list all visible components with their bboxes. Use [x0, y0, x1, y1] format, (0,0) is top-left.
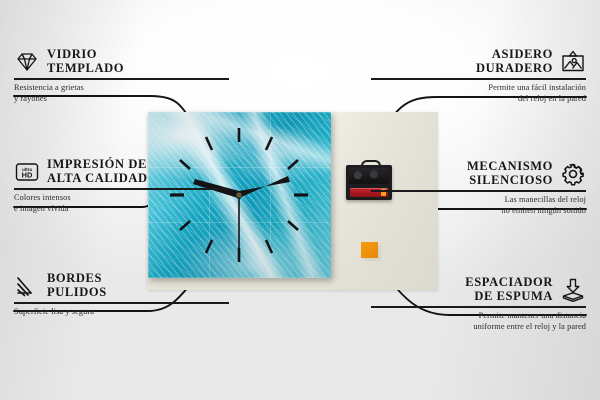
feature-desc-line2: no emiten ningún sonido: [371, 206, 586, 216]
diamond-icon: [14, 49, 40, 75]
tick-7: [206, 240, 212, 253]
svg-text:HD: HD: [22, 170, 33, 179]
feature-vidrio-templado: VIDRIO TEMPLADO Resistencia a grietas y …: [14, 48, 229, 104]
feature-title-line2: DE ESPUMA: [465, 290, 553, 304]
minute-hand: [237, 176, 290, 199]
feature-desc-line2: e imagen vívida: [14, 204, 229, 214]
hanging-frame-icon: [560, 49, 586, 75]
feature-rule: [14, 302, 229, 304]
feature-title-line1: IMPRESIÓN DE: [47, 158, 148, 172]
feature-rule: [14, 188, 229, 190]
feature-rule: [371, 190, 586, 192]
feature-title-line2: PULIDOS: [47, 286, 107, 300]
tick-2: [288, 160, 298, 169]
feature-title-line2: ALTA CALIDAD: [47, 172, 148, 186]
tick-11: [206, 137, 212, 150]
infographic-canvas: VIDRIO TEMPLADO Resistencia a grietas y …: [0, 0, 600, 400]
tick-5: [266, 240, 272, 253]
feature-desc-line1: Las manecillas del reloj: [371, 195, 586, 205]
feature-rule: [371, 306, 586, 308]
polished-edges-icon: [14, 273, 40, 299]
feature-title-line2: TEMPLADO: [47, 62, 124, 76]
feature-bordes-pulidos: BORDES PULIDOS Superficie lisa y segura: [14, 272, 229, 318]
feature-title-line1: VIDRIO: [47, 48, 124, 62]
feature-desc-line2: del reloj en la pared: [371, 94, 586, 104]
feature-mecanismo-silencioso: MECANISMO SILENCIOSO Las manecillas del …: [371, 160, 586, 216]
feature-title-line1: BORDES: [47, 272, 107, 286]
feature-title-line2: SILENCIOSO: [467, 174, 553, 188]
feature-desc-line1: Superficie lisa y segura: [14, 307, 229, 317]
feature-title-line2: DURADERO: [476, 62, 553, 76]
foam-spacer-icon: [560, 277, 586, 303]
feature-title-line1: MECANISMO: [467, 160, 553, 174]
ultra-hd-icon: ultra HD: [14, 159, 40, 185]
feature-desc-line2: y rayones: [14, 94, 229, 104]
feature-desc-line2: uniforme entre el reloj y la pared: [371, 322, 586, 332]
feature-desc-line1: Resistencia a grietas: [14, 83, 229, 93]
feature-title-line1: ESPACIADOR: [465, 276, 553, 290]
feature-desc-line1: Permite mantener una distancia: [371, 311, 586, 321]
feature-desc-line1: Colores intensos: [14, 193, 229, 203]
feature-rule: [14, 78, 229, 80]
feature-impresion-alta-calidad: ultra HD IMPRESIÓN DE ALTA CALIDAD Color…: [14, 158, 229, 214]
tick-8: [180, 221, 190, 230]
clock-center-cap: [236, 192, 241, 197]
feature-desc-line1: Permite una fácil instalación: [371, 83, 586, 93]
tick-1: [266, 137, 272, 150]
feature-asidero-duradero: ASIDERO DURADERO Permite una fácil insta…: [371, 48, 586, 104]
feature-rule: [371, 78, 586, 80]
tick-4: [288, 221, 298, 230]
feature-espaciador-de-espuma: ESPACIADOR DE ESPUMA Permite mantener un…: [371, 276, 586, 332]
foam-spacer: [361, 242, 378, 258]
gear-icon: [560, 161, 586, 187]
feature-title-line1: ASIDERO: [476, 48, 553, 62]
